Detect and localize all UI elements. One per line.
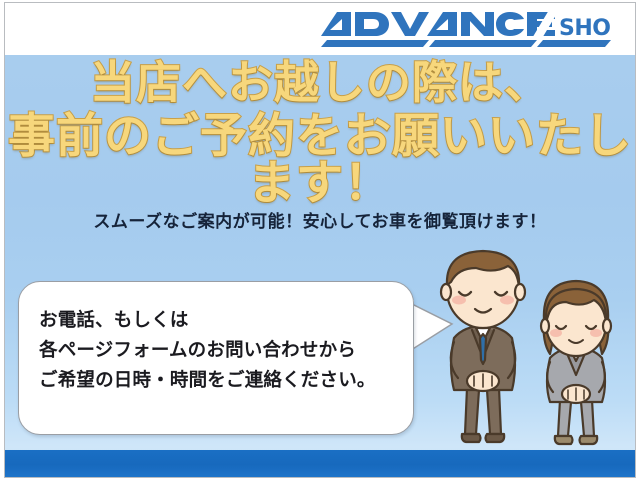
bowing-staff-illustration [432,238,640,464]
speech-bubble-line-2: 各ページフォームのお問い合わせから [39,336,399,366]
speech-bubble-line-3: ご希望の日時・時間をご連絡ください。 [39,366,399,396]
speech-bubble: お電話、もしくは 各ページフォームのお問い合わせから ご希望の日時・時間をご連絡… [18,281,414,435]
advance-shonan-logo: SHONAN [311,10,611,48]
speech-bubble-tail [408,296,454,358]
advance-shonan-reservation-banner: SHONAN 当店へお越しの際は、 事前のご予約をお願いいたします！ スムーズな… [0,0,640,480]
headline: 当店へお越しの際は、 事前のご予約をお願いいたします！ [0,60,640,207]
subtitle: スムーズなご案内が可能！安心してお車を御覧頂けます！ [0,207,640,232]
headline-line-2: 事前のご予約をお願いいたします！ [0,113,640,207]
banner-header: SHONAN [5,3,635,55]
svg-text:SHONAN: SHONAN [559,16,611,41]
headline-line-1: 当店へお越しの際は、 [0,60,640,113]
speech-bubble-line-1: お電話、もしくは [39,306,399,336]
speech-bubble-text: お電話、もしくは 各ページフォームのお問い合わせから ご希望の日時・時間をご連絡… [39,306,399,396]
bowing-woman [541,281,611,444]
